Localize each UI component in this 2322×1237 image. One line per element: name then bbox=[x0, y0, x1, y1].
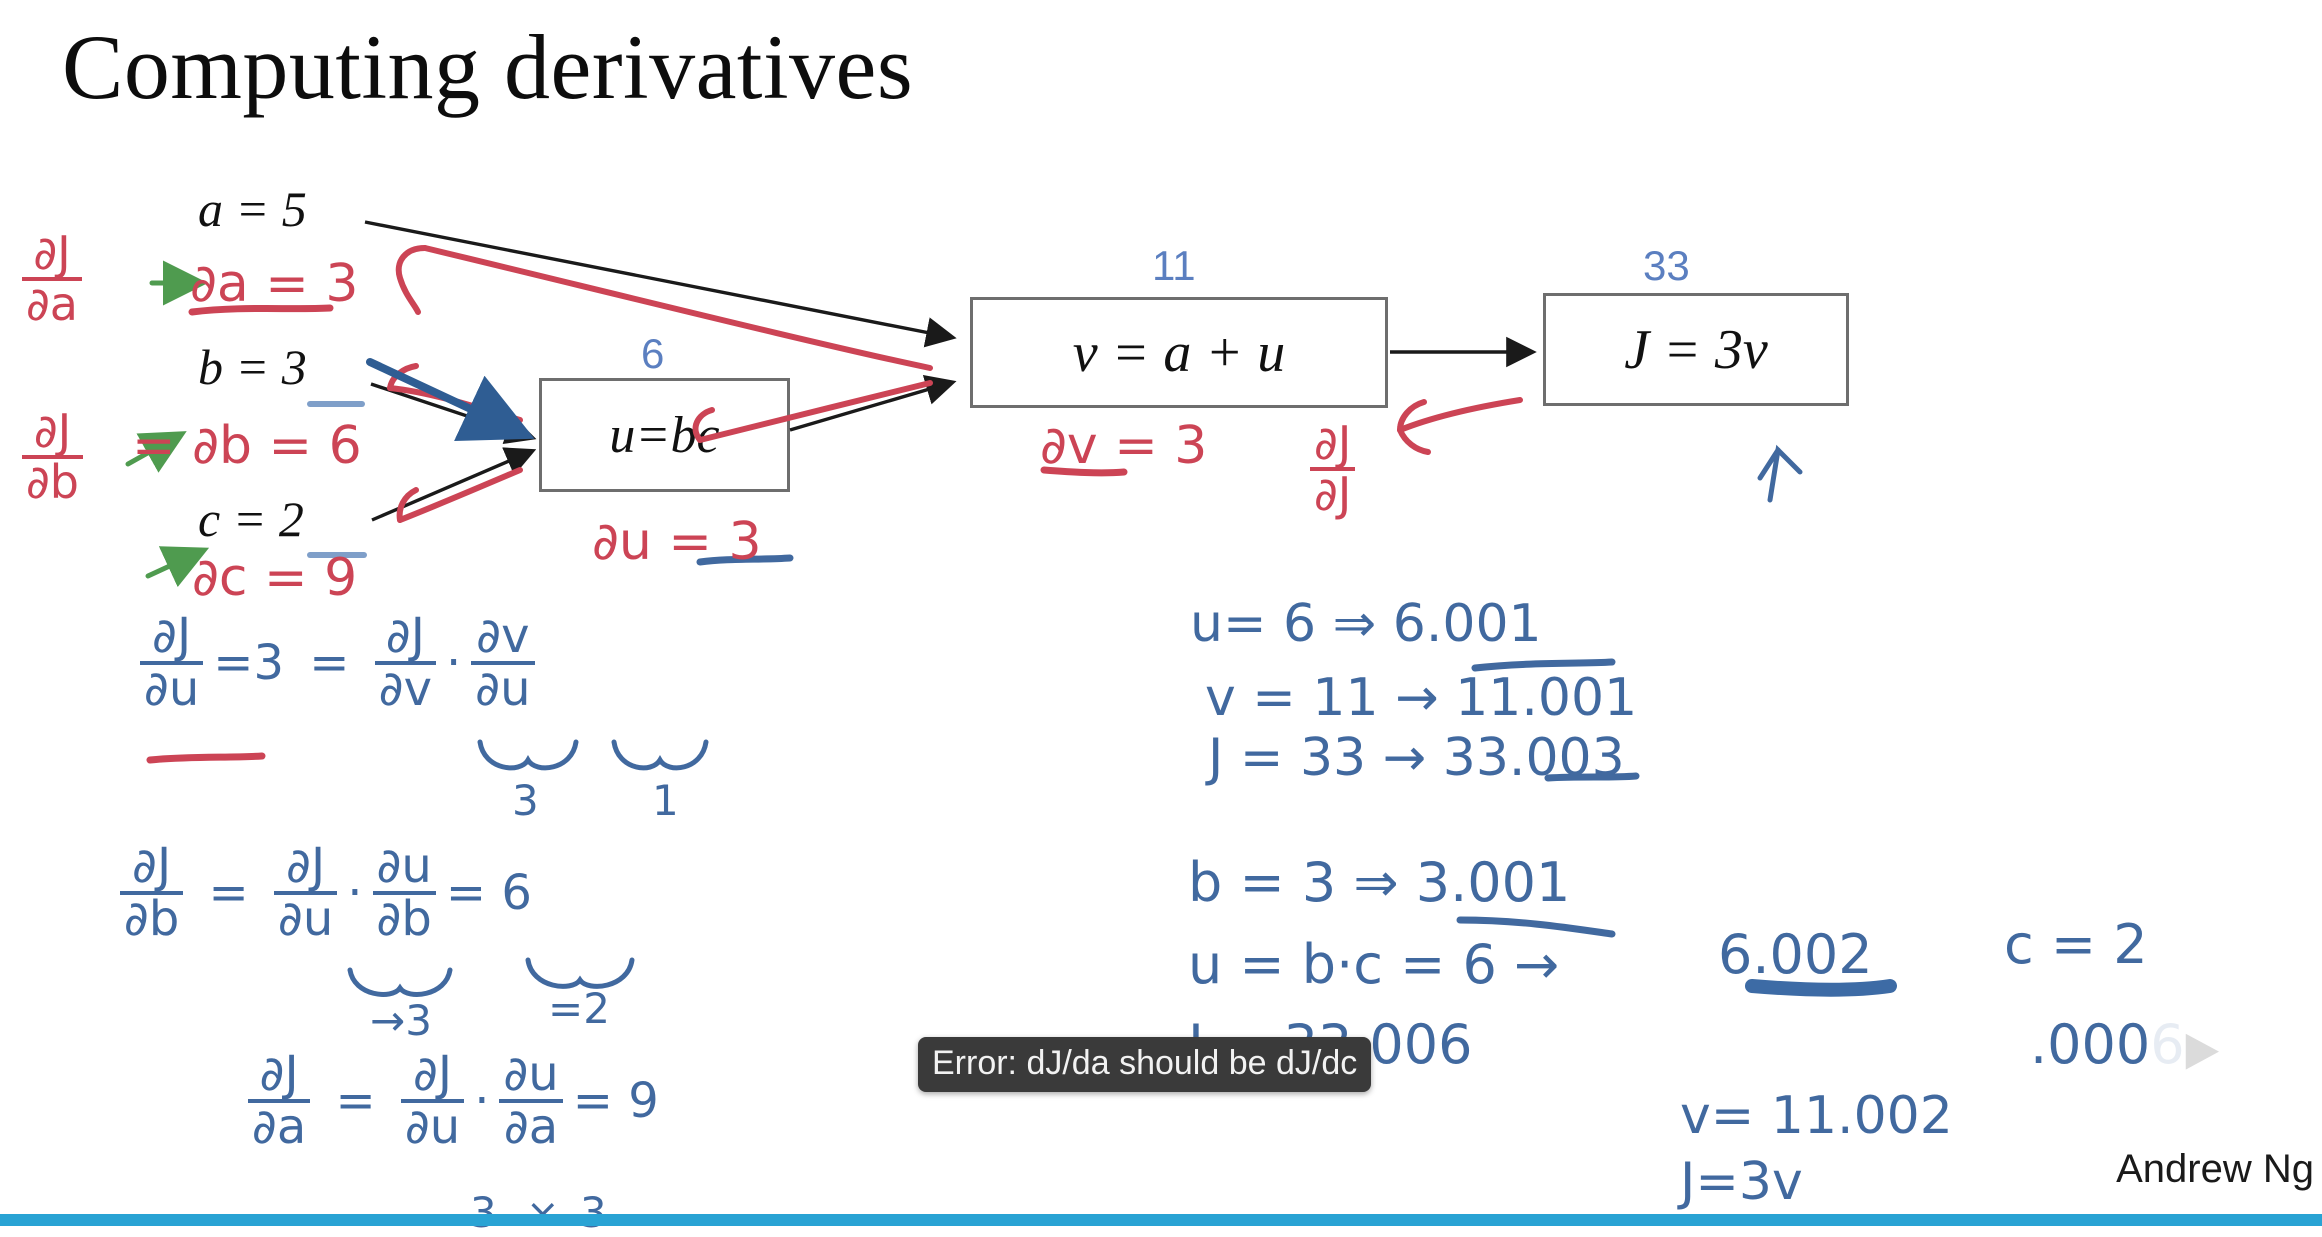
annotation-dJ-db: ∂J ∂b bbox=[22, 408, 83, 506]
dJ-da-den: ∂a bbox=[22, 277, 82, 328]
input-a: a = 5 bbox=[198, 180, 307, 238]
node-box-u: u=bc bbox=[539, 378, 790, 492]
eq2-lhs-num: ∂J bbox=[120, 842, 183, 891]
annotation-dJ-da: ∂J ∂a bbox=[22, 230, 82, 328]
slide-canvas: Computing derivatives a = 5 b = 3 c = 2 … bbox=[0, 0, 2322, 1226]
dJ-dJ-den: ∂J bbox=[1310, 467, 1355, 518]
eq1-value: =3 bbox=[213, 639, 284, 687]
eq3-lhs-den: ∂a bbox=[248, 1099, 310, 1152]
value-u-perturbed: 6.002 bbox=[1718, 928, 1873, 982]
eq2-t2-den: ∂b bbox=[373, 891, 436, 944]
numeric2-line-u: u = b·c = 6 → bbox=[1188, 938, 1559, 992]
eq2-value: = 6 bbox=[446, 869, 532, 917]
eq3-t2-num: ∂u bbox=[499, 1050, 562, 1099]
node-j-value: 33 bbox=[1643, 242, 1690, 290]
node-u-expr: u=bc bbox=[609, 406, 719, 465]
dJ-da-num: ∂J bbox=[22, 230, 82, 277]
eq2-t1-den: ∂u bbox=[274, 891, 337, 944]
annotation-dc-result: ∂c = 9 bbox=[192, 552, 357, 604]
equation-dJ-da-blue: ∂J ∂a = ∂J ∂u · ∂u ∂a = 9 bbox=[248, 1050, 659, 1152]
eq3-t1-under: 3 bbox=[470, 1192, 497, 1234]
eq3-t1-num: ∂J bbox=[401, 1050, 464, 1099]
error-tooltip-text: Error: dJ/da should be dJ/dc bbox=[932, 1044, 1357, 1082]
author-credit: Andrew Ng bbox=[2116, 1147, 2314, 1192]
node-box-v: v = a + u bbox=[970, 297, 1388, 408]
annotation-db-result: = ∂b = 6 bbox=[132, 420, 362, 472]
eq2-t1-num: ∂J bbox=[274, 842, 337, 891]
eq3-t2-under: 3 bbox=[580, 1192, 607, 1234]
eq1-t1-den: ∂v bbox=[375, 661, 436, 714]
value-c: c = 2 bbox=[2004, 918, 2148, 972]
error-tooltip: Error: dJ/da should be dJ/dc bbox=[918, 1037, 1371, 1092]
annotation-dv-result: ∂v = 3 bbox=[1040, 420, 1207, 472]
numeric-line-j: J = 33 → 33.003 bbox=[1208, 732, 1625, 784]
node-v-expr: v = a + u bbox=[1073, 321, 1285, 385]
eq1-equals: = bbox=[294, 639, 365, 687]
node-box-j: J = 3v bbox=[1543, 293, 1849, 406]
node-j-expr: J = 3v bbox=[1624, 318, 1768, 382]
annotation-du-result: ∂u = 3 bbox=[592, 516, 762, 568]
annotation-da-result: ∂a = 3 bbox=[190, 258, 358, 310]
eq2-lhs-den: ∂b bbox=[120, 891, 183, 944]
eq1-dot: · bbox=[446, 639, 461, 687]
eq1-t2-under: 1 bbox=[652, 780, 679, 822]
eq3-t2-den: ∂a bbox=[499, 1099, 562, 1152]
eq3-dot: · bbox=[474, 1077, 489, 1125]
eq2-t2-num: ∂u bbox=[373, 842, 436, 891]
equation-dJ-db: ∂J ∂b = ∂J ∂u · ∂u ∂b = 6 bbox=[120, 842, 532, 944]
backprop-arrow-blue bbox=[370, 362, 520, 432]
numeric-line-u: u= 6 ⇒ 6.001 bbox=[1190, 598, 1542, 650]
blue-thick-underline bbox=[1752, 986, 1890, 990]
play-badge-icon bbox=[2132, 980, 2260, 1108]
eq3-equals: = bbox=[320, 1077, 391, 1125]
node-v-value: 11 bbox=[1152, 242, 1196, 290]
eq1-t2-num: ∂v bbox=[471, 612, 534, 661]
dJ-db-num: ∂J bbox=[22, 408, 83, 455]
input-b: b = 3 bbox=[198, 338, 307, 396]
equation-dJ-du: ∂J ∂u =3 = ∂J ∂v · ∂v ∂u bbox=[140, 612, 535, 714]
node-u-value: 6 bbox=[641, 330, 664, 378]
value-j-formula: J=3v bbox=[1680, 1156, 1803, 1208]
eq1-t1-num: ∂J bbox=[375, 612, 436, 661]
page-title: Computing derivatives bbox=[62, 14, 913, 120]
blue-up-arrow bbox=[1760, 450, 1800, 500]
eq1-t2-den: ∂u bbox=[471, 661, 534, 714]
numeric-line-v: v = 11 → 11.001 bbox=[1205, 672, 1637, 724]
dJ-db-den: ∂b bbox=[22, 455, 83, 506]
dJ-dJ-num: ∂J bbox=[1310, 420, 1355, 467]
eq1-lhs-den: ∂u bbox=[140, 661, 203, 714]
eq3-lhs-num: ∂J bbox=[248, 1050, 310, 1099]
eq2-dot: · bbox=[347, 869, 362, 917]
eq3-value: = 9 bbox=[573, 1077, 659, 1125]
annotation-dJ-dJ: ∂J ∂J bbox=[1310, 420, 1355, 518]
eq1-lhs-num: ∂J bbox=[140, 612, 203, 661]
bottom-accent-bar bbox=[0, 1214, 2322, 1226]
value-v-perturbed: v= 11.002 bbox=[1680, 1090, 1953, 1142]
numeric2-line-b: b = 3 ⇒ 3.001 bbox=[1188, 856, 1570, 910]
eq3-t1-den: ∂u bbox=[401, 1099, 464, 1152]
input-c: c = 2 bbox=[198, 490, 304, 548]
eq2-t1-under: →3 bbox=[370, 1000, 432, 1042]
eq1-t1-under: 3 bbox=[512, 780, 539, 822]
eq2-equals: = bbox=[193, 869, 264, 917]
eq2-t2-under: =2 bbox=[548, 988, 610, 1030]
